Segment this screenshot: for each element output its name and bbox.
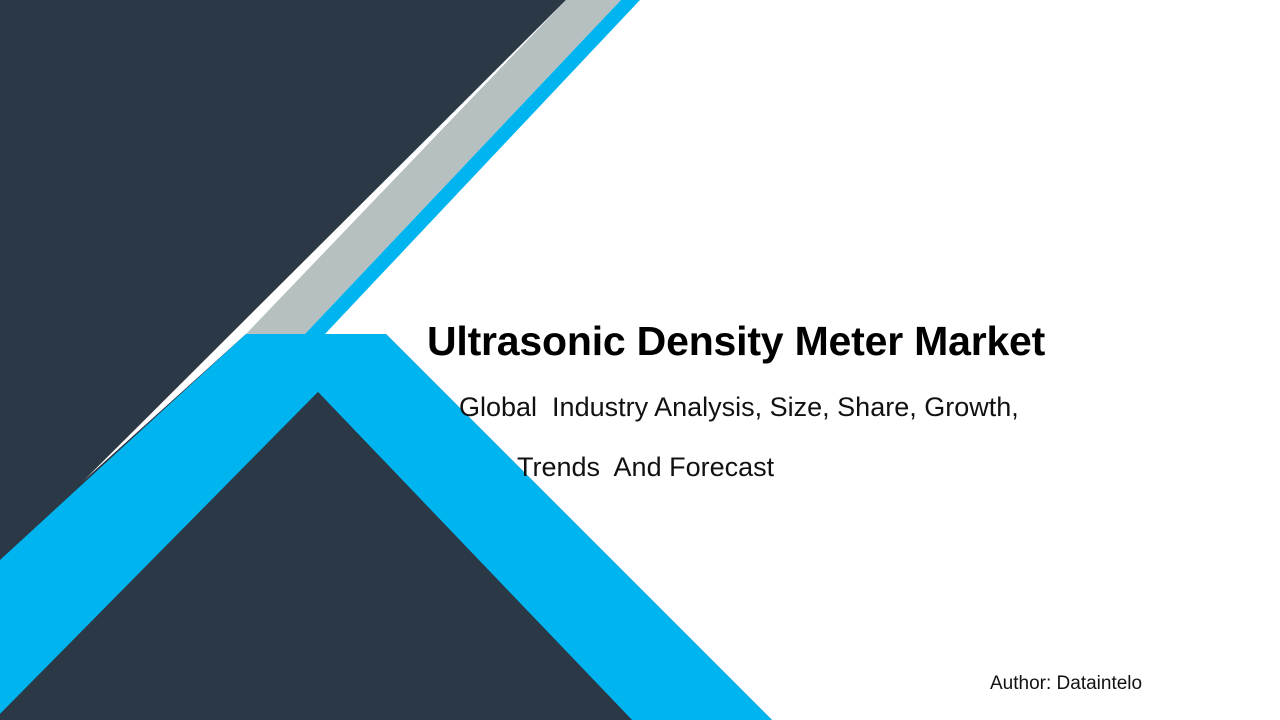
text-content-layer: Ultrasonic Density Meter Market Global I… <box>0 0 1280 720</box>
subtitle-line-1: Global Industry Analysis, Size, Share, G… <box>459 392 1019 422</box>
author-credit: Author: Dataintelo <box>990 671 1142 697</box>
page-title: Ultrasonic Density Meter Market <box>427 317 1045 365</box>
subtitle-line-2: Trends And Forecast <box>459 437 1159 497</box>
cover-slide: Ultrasonic Density Meter Market Global I… <box>0 0 1280 720</box>
subtitle: Global Industry Analysis, Size, Share, G… <box>459 377 1159 497</box>
